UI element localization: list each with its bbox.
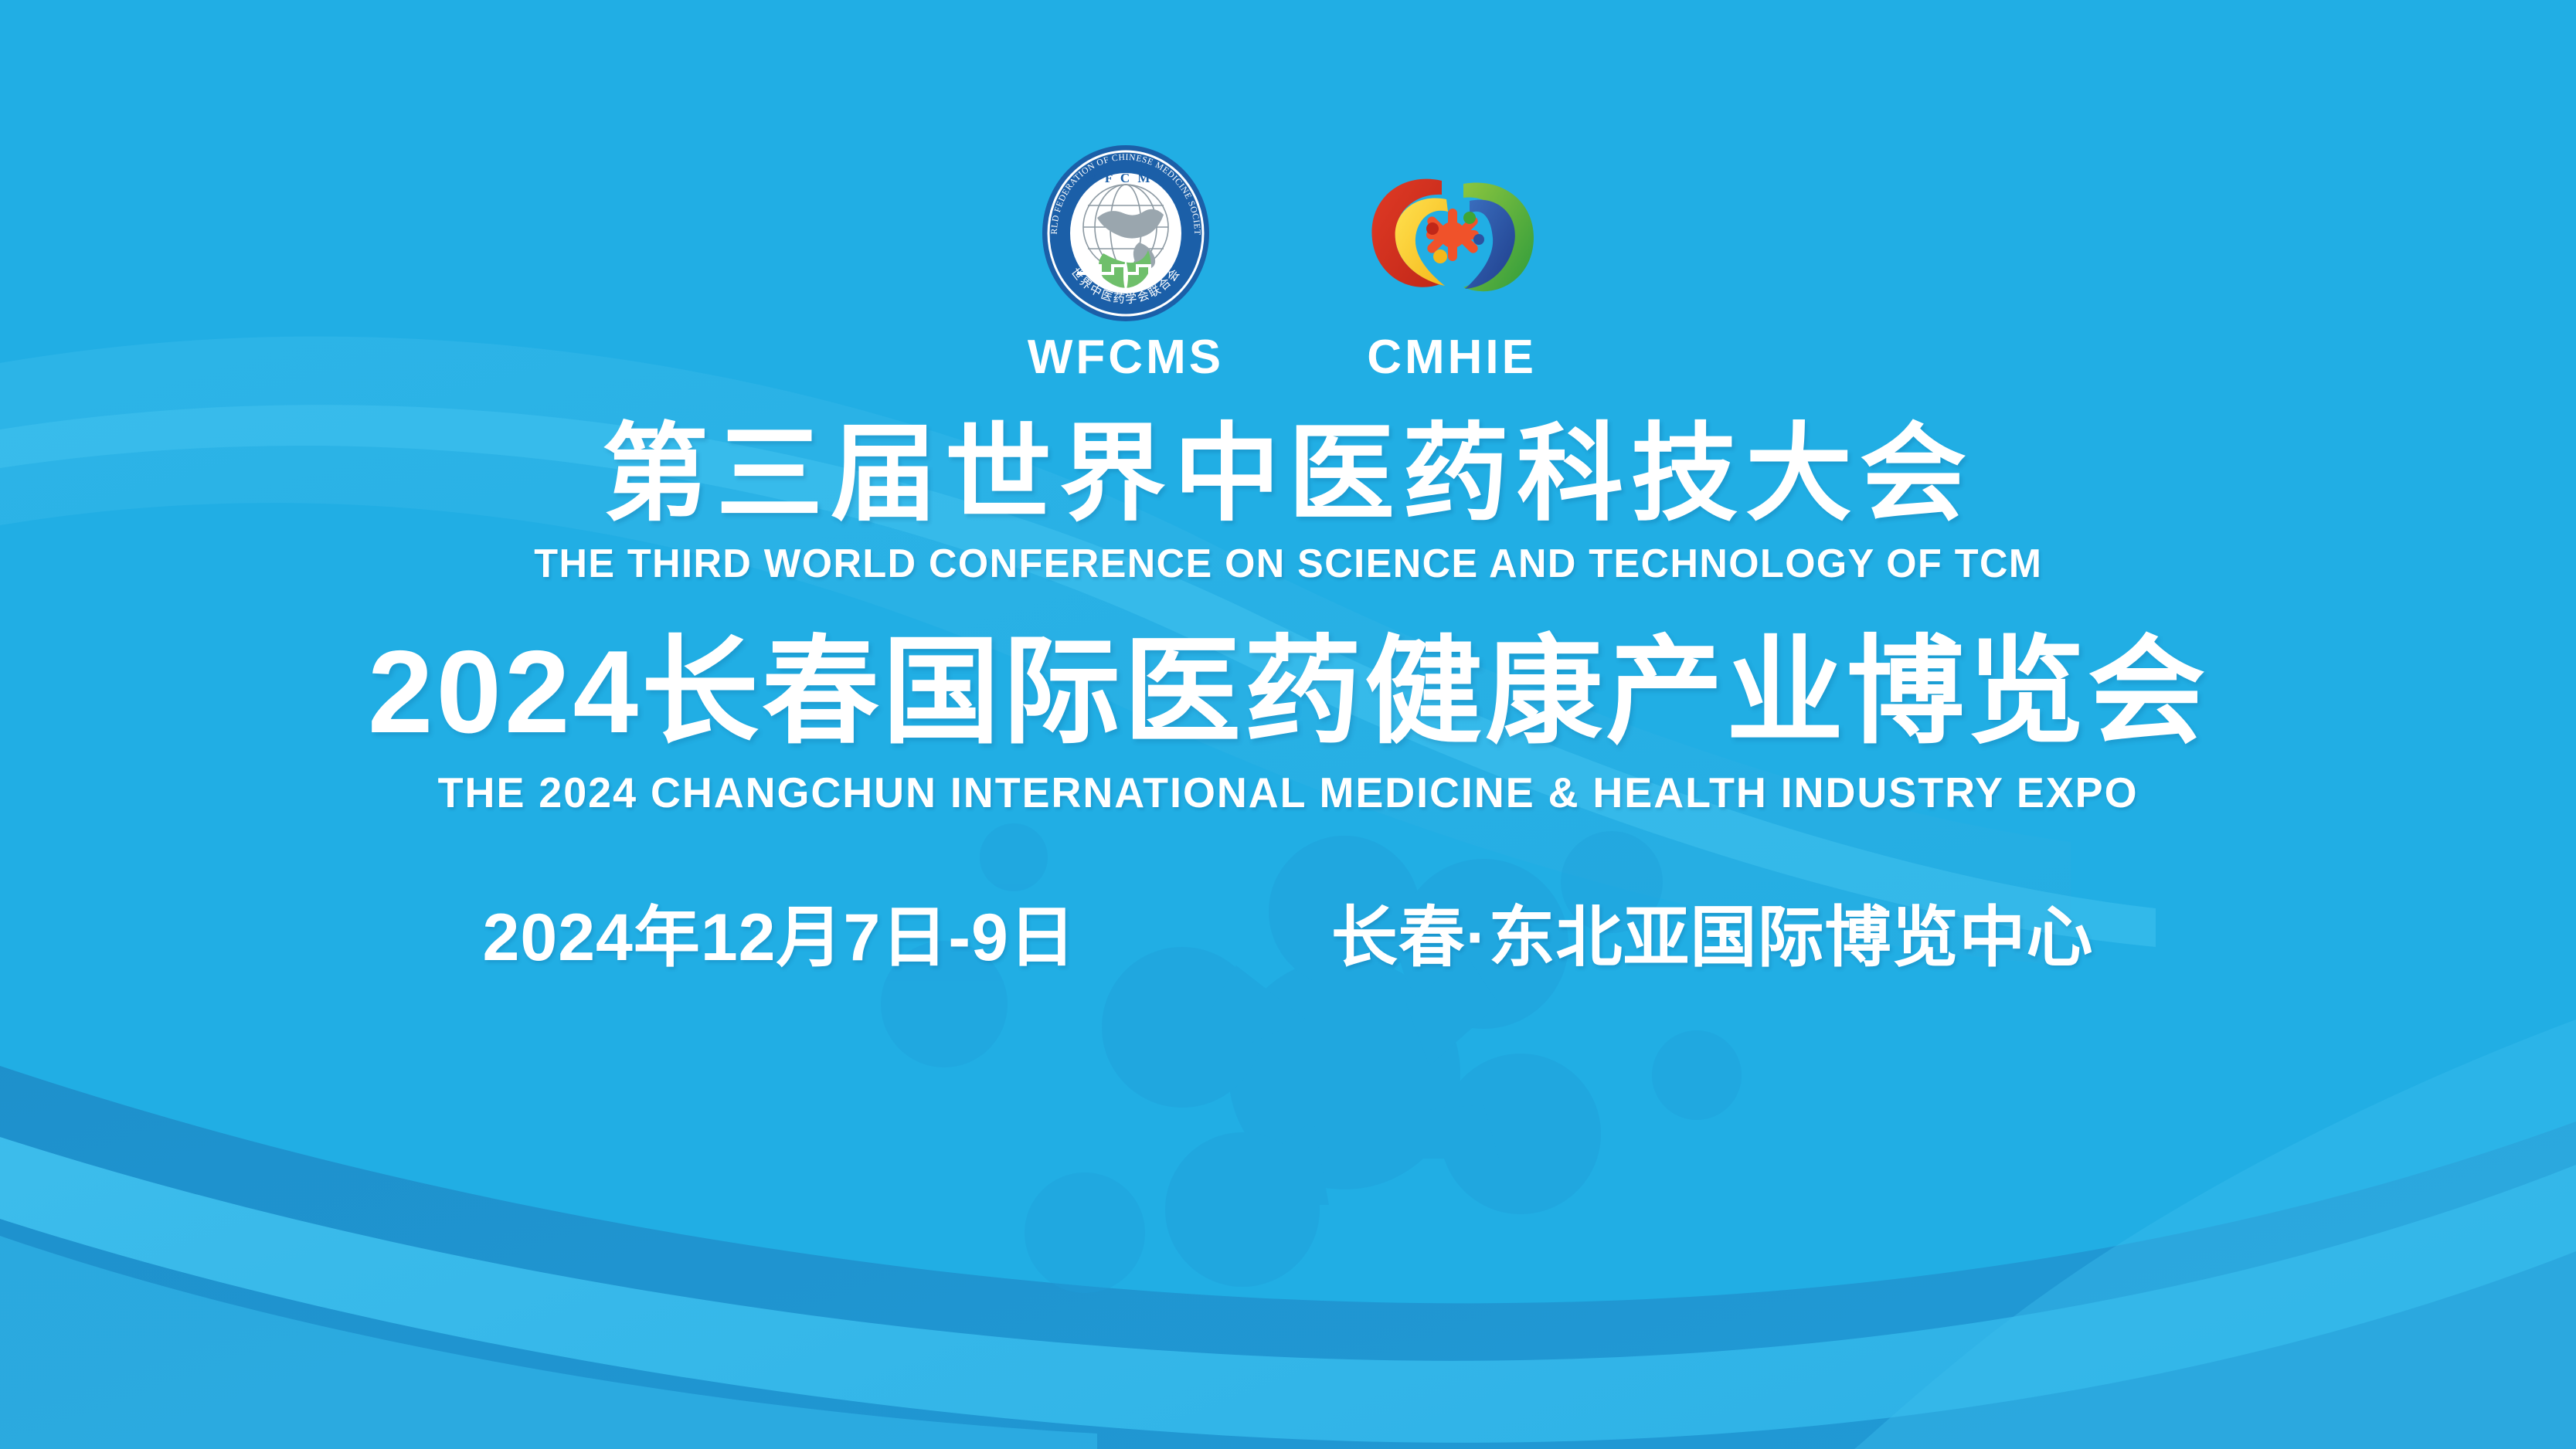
conference-title-block: 第三届世界中医药科技大会 THE THIRD WORLD CONFERENCE … (511, 419, 2066, 588)
cmhie-wordmark: CMHIE (1367, 334, 1537, 382)
event-date: 2024年12月7日-9日 (483, 901, 1076, 975)
wfcms-wordmark: WFCMS (1028, 334, 1224, 382)
logo-cmhie: CMHIE (1355, 144, 1548, 382)
expo-title-block: 2024长春国际医药健康产业博览会 THE 2024 CHANGCHUN INT… (368, 631, 2208, 818)
conference-title-en: THE THIRD WORLD CONFERENCE ON SCIENCE AN… (534, 540, 2042, 588)
expo-title-en: THE 2024 CHANGCHUN INTERNATIONAL MEDICIN… (386, 767, 2190, 818)
conference-title-cn: 第三届世界中医药科技大会 (511, 419, 2066, 531)
event-venue: 长春·东北亚国际博览中心 (1331, 901, 2094, 975)
logo-row: W F C M S WORLD FEDERATION OF CHINESE ME… (1028, 144, 1548, 382)
svg-text:W F C M S: W F C M S (1084, 171, 1167, 185)
expo-title-cn: 2024长春国际医药健康产业博览会 (368, 631, 2208, 755)
conference-banner: W F C M S WORLD FEDERATION OF CHINESE ME… (0, 0, 2576, 1449)
wfcms-emblem-icon: W F C M S WORLD FEDERATION OF CHINESE ME… (1037, 144, 1215, 326)
logo-wfcms: W F C M S WORLD FEDERATION OF CHINESE ME… (1028, 144, 1224, 382)
event-info-row: 2024年12月7日-9日 长春·东北亚国际博览中心 (483, 901, 2094, 975)
cmhie-emblem-icon (1355, 144, 1548, 326)
